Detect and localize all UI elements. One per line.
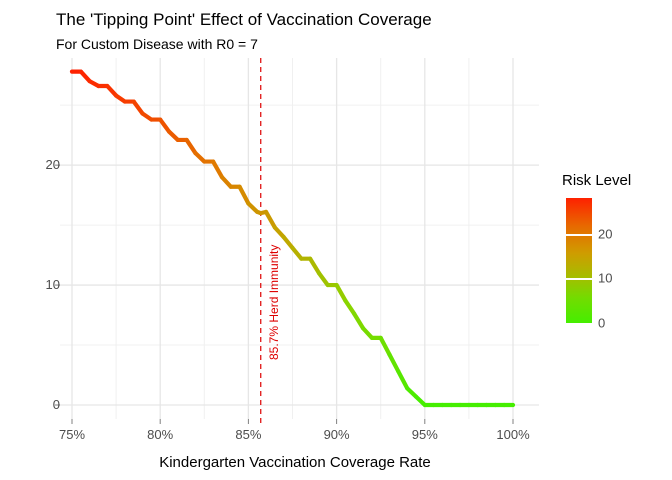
x-tick-label: 100% (483, 427, 543, 442)
annotation-label: 85.7% Herd Immunity (267, 245, 281, 360)
y-tick-label: 10 (22, 277, 60, 292)
legend-tick-mark (566, 278, 592, 280)
axis-tick-marks (55, 165, 513, 424)
legend-tick-label: 10 (598, 271, 612, 286)
x-tick-label: 85% (218, 427, 278, 442)
chart-root: The 'Tipping Point' Effect of Vaccinatio… (0, 0, 672, 480)
y-tick-label: 0 (22, 397, 60, 412)
y-tick-label: 20 (22, 157, 60, 172)
legend-tick-mark (566, 234, 592, 236)
grid-lines (60, 58, 539, 419)
legend-tick-mark (566, 323, 592, 325)
x-tick-label: 75% (42, 427, 102, 442)
legend-tick-label: 20 (598, 226, 612, 241)
x-tick-label: 80% (130, 427, 190, 442)
legend-colorbar (566, 198, 592, 323)
legend-title: Risk Level (562, 172, 631, 189)
x-tick-label: 90% (307, 427, 367, 442)
x-tick-label: 95% (395, 427, 455, 442)
legend-tick-label: 0 (598, 316, 605, 331)
